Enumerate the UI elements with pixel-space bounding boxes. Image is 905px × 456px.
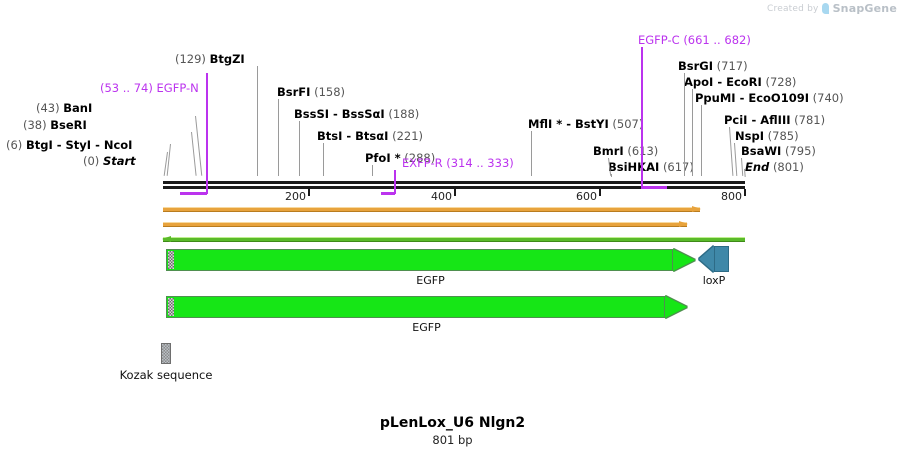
ruler-label-800: 800 [721, 190, 744, 203]
site-position-bseri: (38) [23, 118, 47, 132]
orf-arrow-2-head-icon [679, 221, 688, 227]
feature-label-egfp-1: EGFP [166, 274, 695, 287]
orf-arrow-1[interactable] [163, 206, 700, 213]
site-label-bmri[interactable]: BmrI (613) [593, 145, 658, 158]
site-position-end: (801) [773, 160, 804, 174]
snapgene-logo-icon [822, 3, 830, 15]
site-position-btsi: (221) [392, 129, 423, 143]
ruler-tick-800 [744, 189, 746, 196]
site-label-apoi[interactable]: ApoI - EcoRI (728) [684, 76, 796, 89]
site-position-pcii: (781) [794, 113, 825, 127]
primer-range-egfp-n: (53 .. 74) [100, 81, 153, 95]
site-enzyme-btgi: BtgI - StyI - NcoI [26, 138, 133, 152]
plasmid-size: 801 bp [0, 433, 905, 447]
feature-egfp-2[interactable] [166, 296, 687, 318]
site-label-bsrfi[interactable]: BsrFI (158) [277, 86, 345, 99]
leader-line-bsssi [299, 121, 300, 176]
site-enzyme-mfli: MflI * - BstYI [528, 117, 609, 131]
site-enzyme-start: Start [103, 154, 136, 168]
orf-arrow-2-shaft [163, 222, 687, 227]
feature-label-egfp-2: EGFP [166, 321, 687, 334]
primer-connector-egfp-c [641, 47, 643, 176]
sequence-backbone[interactable]: 200 400 600 800 [0, 176, 905, 202]
leader-line-btsi [323, 143, 324, 176]
site-label-bsrgi[interactable]: BsrGI (717) [678, 60, 748, 73]
primer-bracket-exfp-r-arm [381, 192, 395, 195]
site-position-ppumi: (740) [813, 91, 844, 105]
site-enzyme-bmri: BmrI [593, 144, 624, 158]
orf-arrow-3-head-icon [162, 236, 171, 242]
feature-egfp-2-body [166, 296, 665, 318]
feature-egfp-1-body [166, 249, 673, 271]
site-enzyme-btgzi: BtgZI [210, 52, 245, 66]
ruler-tick-400 [454, 189, 456, 196]
feature-label-loxp: loxP [684, 274, 744, 287]
site-label-ppumi[interactable]: PpuMI - EcoO109I (740) [695, 92, 844, 105]
site-position-bsrgi: (717) [717, 59, 748, 73]
site-label-mfli[interactable]: MflI * - BstYI (507) [528, 118, 643, 131]
ruler-tick-600 [599, 189, 601, 196]
backbone-strand-top [163, 181, 745, 184]
orf-arrow-2[interactable] [163, 221, 687, 228]
site-position-mfli: (507) [612, 117, 643, 131]
kozak-sequence-marker-1 [168, 251, 174, 269]
site-enzyme-bsrfi: BsrFI [277, 85, 310, 99]
primer-range-egfp-c: (661 .. 682) [683, 33, 751, 47]
site-position-bsssi: (188) [388, 107, 419, 121]
leader-line-bsawi [741, 158, 743, 176]
primer-label-egfp-n[interactable]: (53 .. 74) EGFP-N [100, 82, 199, 95]
site-enzyme-bsihkai: BsiHKAI [608, 160, 659, 174]
ruler-label-200: 200 [285, 190, 308, 203]
feature-loxp-head-icon [699, 246, 714, 272]
site-position-nspi: (785) [768, 129, 799, 143]
site-enzyme-bsawi: BsaWI [741, 144, 781, 158]
feature-egfp-1-head-icon [673, 249, 695, 271]
orf-arrow-3[interactable] [163, 236, 745, 243]
feature-egfp-1[interactable] [166, 249, 695, 271]
leader-line-bsrfi [278, 99, 279, 176]
site-enzyme-end: End [745, 160, 769, 174]
site-enzyme-bsrgi: BsrGI [678, 59, 713, 73]
site-label-btgi[interactable]: (6) BtgI - StyI - NcoI [6, 139, 132, 152]
leader-line-bani [195, 116, 202, 176]
primer-bracket-egfp-n-arm [180, 192, 207, 195]
primer-label-exfp-r[interactable]: EXFP-R (314 .. 333) [402, 157, 514, 170]
site-label-btgzi[interactable]: (129) BtgZI [175, 53, 245, 66]
leader-line-bsrgi [684, 73, 685, 176]
leader-line-mfli [531, 131, 532, 176]
orf-arrow-3-shaft [163, 237, 745, 242]
site-position-bmri: (613) [627, 144, 658, 158]
site-label-btsi[interactable]: BtsI - BtsαI (221) [317, 130, 423, 143]
site-enzyme-pfoi: PfoI * [365, 151, 401, 165]
primer-name-egfp-n: EGFP-N [157, 81, 199, 95]
site-enzyme-pcii: PciI - AflIII [724, 113, 791, 127]
primer-connector-egfp-n [206, 73, 208, 176]
primer-name-egfp-c: EGFP-C [638, 33, 680, 47]
site-enzyme-ppumi: PpuMI - EcoO109I [695, 91, 809, 105]
site-position-bani: (43) [36, 101, 60, 115]
kozak-sequence-label: Kozak sequence [113, 368, 219, 382]
site-position-btgzi: (129) [175, 52, 206, 66]
watermark-prefix: Created by [767, 4, 819, 14]
plasmid-name: pLenLox_U6 Nlgn2 [0, 415, 905, 431]
leader-line-pfoi [372, 165, 373, 176]
leader-line-pcii [729, 127, 733, 176]
snapgene-watermark: Created by SnapGene [767, 2, 897, 15]
site-label-bseri[interactable]: (38) BseRI [23, 119, 87, 132]
feature-loxp-body [714, 246, 729, 272]
site-label-nspi[interactable]: NspI (785) [735, 130, 799, 143]
leader-line-btgi [167, 144, 171, 176]
site-enzyme-bani: BanI [63, 101, 92, 115]
site-enzyme-bsssi: BssSI - BssSαI [294, 107, 385, 121]
primer-name-exfp-r: EXFP-R [402, 156, 443, 170]
ruler-label-400: 400 [431, 190, 454, 203]
site-label-bsssi[interactable]: BssSI - BssSαI (188) [294, 108, 419, 121]
feature-egfp-2-head-icon [665, 296, 687, 318]
site-label-pcii[interactable]: PciI - AflIII (781) [724, 114, 825, 127]
orf-arrow-1-shaft [163, 207, 700, 212]
site-label-bani[interactable]: (43) BanI [36, 102, 92, 115]
site-label-stack: (129) BtgZI BsrFI (158) (53 .. 74) EGFP-… [0, 22, 905, 177]
primer-bracket-egfp-c-arm [641, 186, 667, 189]
leader-line-bseri [191, 132, 197, 176]
ruler-tick-200 [308, 189, 310, 196]
site-enzyme-nspi: NspI [735, 129, 764, 143]
site-position-bsawi: (795) [785, 144, 816, 158]
site-enzyme-bseri: BseRI [50, 118, 87, 132]
site-position-apoi: (728) [765, 75, 796, 89]
site-label-bsihkai[interactable]: BsiHKAI (617) [608, 161, 694, 174]
site-enzyme-apoi: ApoI - EcoRI [684, 75, 762, 89]
site-label-end[interactable]: End (801) [745, 161, 804, 174]
feature-loxp[interactable] [699, 246, 729, 272]
kozak-sequence-swatch [161, 343, 171, 364]
leader-line-ppumi [701, 105, 702, 176]
primer-range-exfp-r: (314 .. 333) [446, 156, 514, 170]
leader-line-nspi [734, 143, 737, 176]
site-position-start: (0) [83, 154, 99, 168]
site-label-start[interactable]: (0) Start [83, 155, 136, 168]
primer-label-egfp-c[interactable]: EGFP-C (661 .. 682) [638, 34, 751, 47]
site-enzyme-btsi: BtsI - BtsαI [317, 129, 388, 143]
site-position-bsihkai: (617) [663, 160, 694, 174]
site-position-btgi: (6) [6, 138, 22, 152]
leader-line-apoi [692, 89, 693, 176]
kozak-sequence-marker-2 [168, 298, 174, 316]
site-label-bsawi[interactable]: BsaWI (795) [741, 145, 816, 158]
site-position-bsrfi: (158) [314, 85, 345, 99]
watermark-brand: SnapGene [833, 2, 897, 15]
ruler-label-600: 600 [576, 190, 599, 203]
leader-line-btgzi [257, 66, 258, 176]
orf-arrow-1-head-icon [692, 206, 701, 212]
